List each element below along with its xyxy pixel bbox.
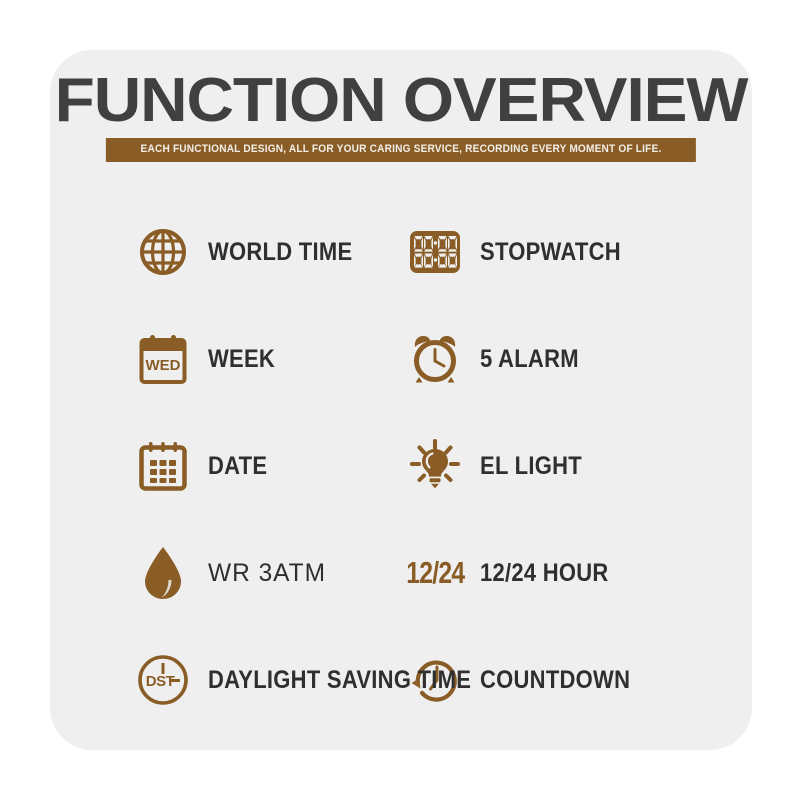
feature-label: DATE [208,453,267,479]
calendar-week-icon: WED [132,328,194,390]
feature-label: STOPWATCH [480,239,621,265]
feature-row: DST DAYLIGHT SAVING TIME COUNT [50,626,752,733]
dst-circle-icon: DST [132,649,194,711]
feature-label: 12/24 HOUR [480,560,609,586]
function-overview-card: FUNCTION OVERVIEW EACH FUNCTIONAL DESIGN… [50,50,752,750]
feature-item-stopwatch[interactable]: STOPWATCH [390,221,730,283]
feature-label: WEEK [208,346,275,372]
digital-display-icon [404,221,466,283]
feature-label: COUNTDOWN [480,667,630,693]
feature-item-el-light[interactable]: EL LIGHT [390,435,730,497]
subtitle-banner: EACH FUNCTIONAL DESIGN, ALL FOR YOUR CAR… [106,138,696,162]
week-icon-text: WED [146,357,181,374]
feature-row: DATE [50,412,752,519]
feature-item-12-24-hour[interactable]: 12/24 12/24 HOUR [390,542,730,604]
twelve-twentyfour-icon: 12/24 [404,542,466,604]
feature-row: WED WEEK [50,305,752,412]
twelve-twentyfour-text: 12/24 [406,557,464,588]
page-title: FUNCTION OVERVIEW [29,70,773,132]
feature-item-world-time[interactable]: WORLD TIME [50,221,390,283]
subtitle-text: EACH FUNCTIONAL DESIGN, ALL FOR YOUR CAR… [141,143,662,156]
feature-item-week[interactable]: WED WEEK [50,328,390,390]
water-drop-icon [132,542,194,604]
calendar-date-icon [132,435,194,497]
globe-icon [132,221,194,283]
feature-row: WR 3ATM 12/24 12/24 HOUR [50,519,752,626]
feature-item-water-resistance[interactable]: WR 3ATM [50,542,390,604]
feature-item-date[interactable]: DATE [50,435,390,497]
light-bulb-icon [404,435,466,497]
page-root: FUNCTION OVERVIEW EACH FUNCTIONAL DESIGN… [0,0,800,800]
feature-label: WORLD TIME [208,239,352,265]
alarm-clock-icon [404,328,466,390]
feature-item-alarm[interactable]: 5 ALARM [390,328,730,390]
feature-label: 5 ALARM [480,346,579,372]
feature-item-daylight-saving-time[interactable]: DST DAYLIGHT SAVING TIME [50,649,390,711]
feature-label: WR 3ATM [208,560,326,586]
feature-grid: WORLD TIME [50,198,752,733]
feature-label: EL LIGHT [480,453,582,479]
dst-icon-text: DST [146,673,175,690]
feature-row: WORLD TIME [50,198,752,305]
feature-label: DAYLIGHT SAVING TIME [208,667,471,693]
